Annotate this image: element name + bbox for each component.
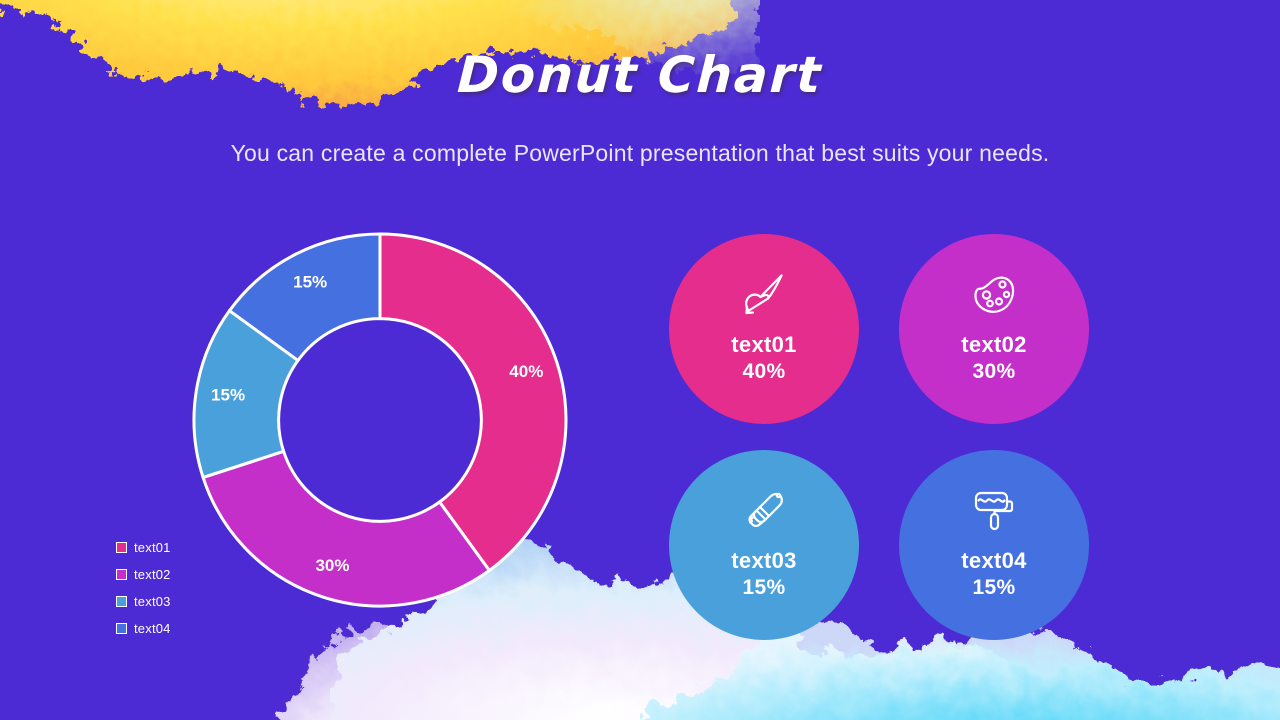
badge-value: 40% [743, 359, 786, 384]
donut-chart: 40%30%15%15% [192, 232, 568, 608]
donut-slice-label: 15% [293, 272, 327, 291]
donut-slice-text02[interactable] [203, 451, 489, 606]
watercolor-splash-bottom-left [260, 600, 590, 720]
chart-legend: text01 text02 text03 text04 [116, 534, 171, 642]
donut-slices [194, 234, 566, 606]
legend-swatch-icon [116, 542, 127, 553]
badge-label: text02 [961, 332, 1026, 357]
legend-label: text04 [134, 621, 171, 636]
donut-slice-label: 30% [315, 556, 349, 575]
badge-value: 15% [973, 575, 1016, 600]
badge-label: text03 [731, 548, 796, 573]
legend-swatch-icon [116, 569, 127, 580]
donut-chart-svg: 40%30%15%15% [192, 232, 568, 608]
category-badges: text01 40% text02 30% [669, 234, 1089, 662]
paint-brush-flat-icon [735, 480, 793, 542]
badge-text03[interactable]: text03 15% [669, 450, 859, 640]
badge-text02[interactable]: text02 30% [899, 234, 1089, 424]
page-title: Donut Chart [0, 46, 1280, 104]
slide-root: Donut Chart You can create a complete Po… [0, 0, 1280, 720]
paint-roller-icon [965, 480, 1023, 542]
badge-text04[interactable]: text04 15% [899, 450, 1089, 640]
legend-item[interactable]: text02 [116, 561, 171, 588]
legend-label: text03 [134, 594, 171, 609]
legend-item[interactable]: text04 [116, 615, 171, 642]
legend-label: text02 [134, 567, 171, 582]
badge-label: text01 [731, 332, 796, 357]
legend-swatch-icon [116, 623, 127, 634]
legend-swatch-icon [116, 596, 127, 607]
donut-slice-label: 40% [509, 362, 543, 381]
legend-item[interactable]: text03 [116, 588, 171, 615]
badge-text01[interactable]: text01 40% [669, 234, 859, 424]
donut-slice-label: 15% [211, 385, 245, 404]
paint-palette-icon [965, 264, 1023, 326]
badge-label: text04 [961, 548, 1026, 573]
badge-value: 15% [743, 575, 786, 600]
paint-brush-round-icon [735, 264, 793, 326]
page-subtitle: You can create a complete PowerPoint pre… [0, 140, 1280, 167]
legend-label: text01 [134, 540, 171, 555]
badge-value: 30% [973, 359, 1016, 384]
legend-item[interactable]: text01 [116, 534, 171, 561]
